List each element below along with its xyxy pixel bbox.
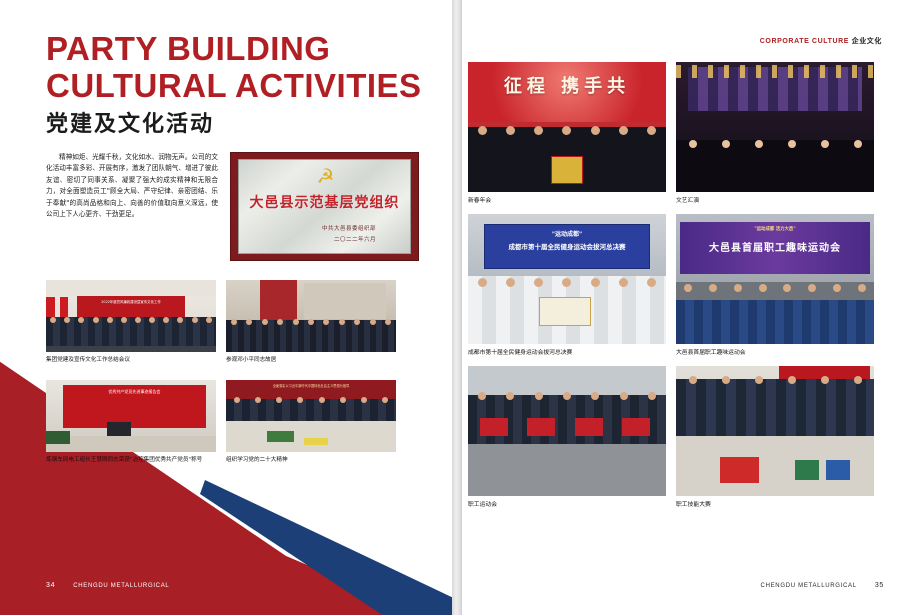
photo-new-year-gala: 征程 携手共 (468, 62, 666, 192)
photo-cell: 全面落实以习近平新时代中国特色社会主义思想为指导 组织学习党的二十大精神 (226, 380, 396, 464)
headline-english-line1: PARTY BUILDING (46, 30, 446, 67)
photo-row: 征程 携手共 新春年会 文艺汇演 (468, 62, 894, 205)
photo-fun-sports-meet: "运动成都 活力大邑" 大邑县首届职工趣味运动会 (676, 214, 874, 344)
photo-cell: 职工运动会 (468, 366, 666, 509)
photo-caption: 参观邓小平同志故居 (226, 356, 396, 364)
photo-cell: 征程 携手共 新春年会 (468, 62, 666, 205)
photo-banner-text: 大邑县首届职工趣味运动会 (709, 239, 841, 254)
photo-art-performance (676, 62, 874, 192)
left-page-number: 34 (46, 582, 55, 589)
photo-caption: 大邑县首届职工趣味运动会 (676, 349, 874, 357)
photo-screen-text: 2022年度党风廉政建设暨宣传文化工作 (87, 300, 175, 305)
running-header: CORPORATE CULTURE 企业文化 (760, 36, 882, 46)
photo-cell: "运动成都" 成都市第十届全民健身运动会拔河总决赛 成都市第十届全民健身运动会拔… (468, 214, 666, 357)
right-page-number: 35 (875, 582, 884, 589)
left-page-footer: 34 CHENGDU METALLURGICAL (46, 582, 169, 589)
photo-row: "运动成都" 成都市第十届全民健身运动会拔河总决赛 成都市第十届全民健身运动会拔… (468, 214, 894, 357)
left-page: PARTY BUILDING CULTURAL ACTIVITIES 党建及文化… (0, 0, 452, 615)
photo-screen-text: 优秀共产党员先进事迹报告会 (70, 389, 199, 395)
running-header-english: CORPORATE CULTURE (760, 38, 849, 45)
plaque-issuer-block: 中共大邑县委组织部 二〇二二年六月 (239, 221, 410, 243)
photo-skills-competition (676, 366, 874, 496)
left-footer-brand: CHENGDU METALLURGICAL (73, 583, 169, 589)
hammer-sickle-icon: ☭ (317, 167, 333, 187)
photo-deng-xiaoping-memorial (226, 280, 396, 352)
photo-row: 职工运动会 职工技能大赛 (468, 366, 894, 509)
photo-caption: 职工技能大赛 (676, 501, 874, 509)
photo-tug-of-war-award: "运动成都" 成都市第十届全民健身运动会拔河总决赛 (468, 214, 666, 344)
photo-cell: 2022年度党风廉政建设暨宣传文化工作 集团党建及宣传文化工作总结会议 (46, 280, 216, 364)
photo-screen-text: 全面落实以习近平新时代中国特色社会主义思想为指导 (236, 383, 386, 388)
headline-english-line2: CULTURAL ACTIVITIES (46, 67, 446, 104)
photo-cell: 职工技能大赛 (676, 366, 874, 509)
photo-study-session: 全面落实以习近平新时代中国特色社会主义思想为指导 (226, 380, 396, 452)
photo-cell: 参观邓小平同志故居 (226, 280, 396, 364)
photo-row: 优秀共产党员先进事迹报告会 炼钢车间电工组长王慧刚同志荣获"冶控集团优秀共产党员… (46, 380, 426, 464)
award-plaque-photo: ☭ 大邑县示范基层党组织 中共大邑县委组织部 二〇二二年六月 (230, 152, 419, 261)
running-header-chinese: 企业文化 (852, 37, 882, 45)
intro-section: 精神如炬、光耀千秋，文化如水、润物无声。公司的文化活动丰富多彩、开展有序，激发了… (46, 152, 421, 261)
photo-caption: 炼钢车间电工组长王慧刚同志荣获"冶控集团优秀共产党员"称号 (46, 456, 216, 464)
photo-banner-line2: 成都市第十届全民健身运动会拔河总决赛 (509, 243, 626, 252)
brochure-spread: PARTY BUILDING CULTURAL ACTIVITIES 党建及文化… (0, 0, 900, 615)
photo-caption: 成都市第十届全民健身运动会拔河总决赛 (468, 349, 666, 357)
right-photo-grid: 征程 携手共 新春年会 文艺汇演 (468, 62, 894, 518)
photo-caption: 集团党建及宣传文化工作总结会议 (46, 356, 216, 364)
headline-chinese: 党建及文化活动 (46, 110, 446, 140)
photo-caption: 职工运动会 (468, 501, 666, 509)
book-spine (452, 0, 462, 615)
intro-paragraph: 精神如炬、光耀千秋，文化如水、润物无声。公司的文化活动丰富多彩、开展有序，激发了… (46, 152, 218, 261)
photo-cell: "运动成都 活力大邑" 大邑县首届职工趣味运动会 大邑县首届职工趣味运动会 (676, 214, 874, 357)
left-photo-grid: 2022年度党风廉政建设暨宣传文化工作 集团党建及宣传文化工作总结会议 (46, 280, 426, 469)
photo-banner-small: "运动成都 活力大邑" (754, 226, 795, 232)
plaque-face: ☭ 大邑县示范基层党组织 中共大邑县委组织部 二〇二二年六月 (238, 159, 411, 254)
page-title: PARTY BUILDING CULTURAL ACTIVITIES 党建及文化… (46, 30, 446, 140)
photo-cell: 优秀共产党员先进事迹报告会 炼钢车间电工组长王慧刚同志荣获"冶控集团优秀共产党员… (46, 380, 216, 464)
right-page-footer: CHENGDU METALLURGICAL 35 (761, 582, 884, 589)
plaque-title: 大邑县示范基层党组织 (250, 192, 400, 212)
photo-staff-sports-day (468, 366, 666, 496)
photo-caption: 新春年会 (468, 197, 666, 205)
plaque-date: 二〇二二年六月 (239, 235, 376, 243)
right-page: CORPORATE CULTURE 企业文化 征程 携手共 新春年会 (462, 0, 900, 615)
photo-cell: 文艺汇演 (676, 62, 874, 205)
photo-row: 2022年度党风廉政建设暨宣传文化工作 集团党建及宣传文化工作总结会议 (46, 280, 426, 364)
photo-banner-line1: "运动成都" (552, 230, 582, 239)
photo-banner-text: 征程 携手共 (504, 72, 630, 98)
photo-group-party-meeting: 2022年度党风廉政建设暨宣传文化工作 (46, 280, 216, 352)
photo-caption: 文艺汇演 (676, 197, 874, 205)
plaque-issuer: 中共大邑县委组织部 (239, 224, 376, 232)
right-footer-brand: CHENGDU METALLURGICAL (761, 583, 857, 589)
photo-caption: 组织学习党的二十大精神 (226, 456, 396, 464)
photo-report-meeting: 优秀共产党员先进事迹报告会 (46, 380, 216, 452)
